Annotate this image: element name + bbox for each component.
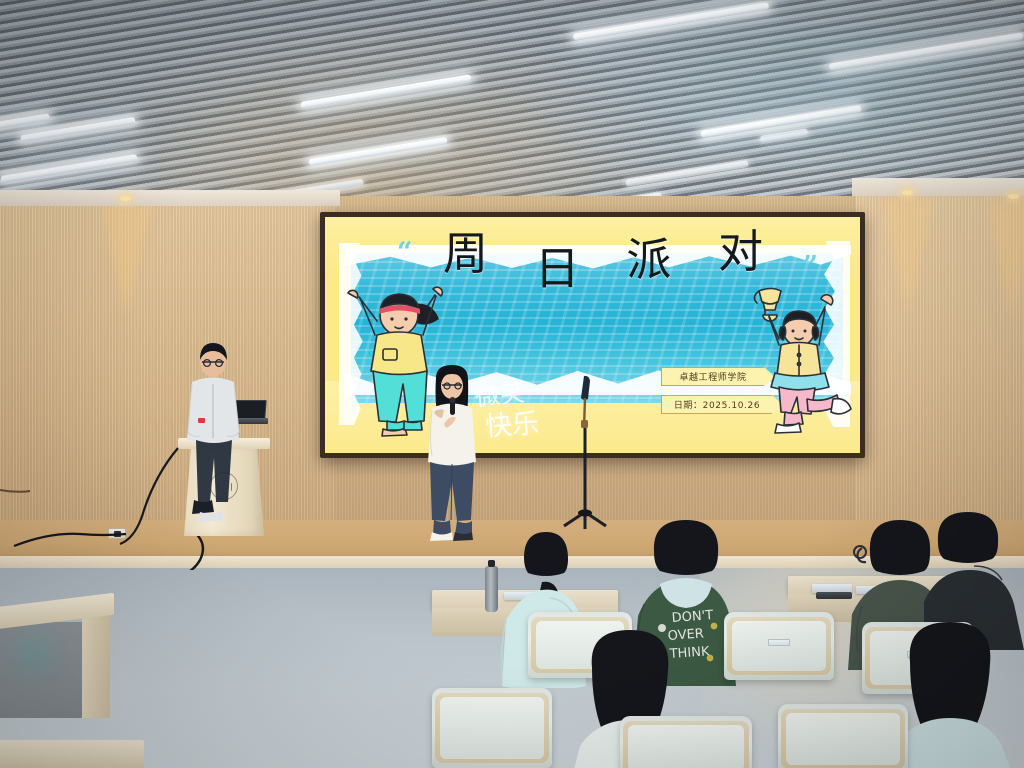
seat-number-tag: [768, 639, 790, 646]
downlight-icon: [120, 196, 131, 201]
bottle-cap-icon: [488, 560, 495, 567]
front-desk-surface: [0, 740, 144, 768]
downlight-cone: [100, 198, 152, 316]
seat-backrest: [786, 713, 900, 765]
screen-subtitle-bottom: 快乐: [484, 401, 541, 444]
seat-backrest: [628, 725, 744, 768]
pencil-case[interactable]: [816, 592, 852, 599]
side-table-left: [0, 600, 114, 718]
table-side-panel: [82, 614, 110, 718]
ceiling-soffit-left: [0, 190, 340, 206]
table-underside: [0, 622, 86, 718]
auditorium-seat[interactable]: [620, 716, 752, 768]
auditorium-seat[interactable]: [432, 688, 552, 768]
quote-open-icon: “: [397, 237, 413, 268]
auditorium-seat[interactable]: [724, 612, 834, 680]
downlight-cone: [986, 202, 1024, 320]
wall-panel-right: [856, 196, 1024, 536]
person-speaker-with-microphone: [424, 364, 480, 546]
downlight-cone: [882, 198, 934, 316]
svg-text:DON'T: DON'T: [671, 608, 713, 626]
auditorium-seat[interactable]: [778, 704, 908, 768]
lecture-hall-photo: “ ” 周 日 派 对 微笑 快乐 卓越工程师学院 日期：2025.10.26: [0, 0, 1024, 768]
downlight-icon: [902, 190, 913, 195]
water-bottle[interactable]: [485, 566, 498, 612]
seat-backrest: [440, 697, 544, 759]
person-presenter-at-podium: [180, 340, 246, 530]
microphone-stand[interactable]: [560, 372, 610, 530]
ceiling-cool-glow: [520, 0, 1024, 170]
illustration-girl-right: [749, 269, 857, 447]
ceiling-soffit-right: [852, 178, 1024, 196]
downlight-icon: [1008, 194, 1019, 199]
stage-cables: [0, 430, 320, 570]
